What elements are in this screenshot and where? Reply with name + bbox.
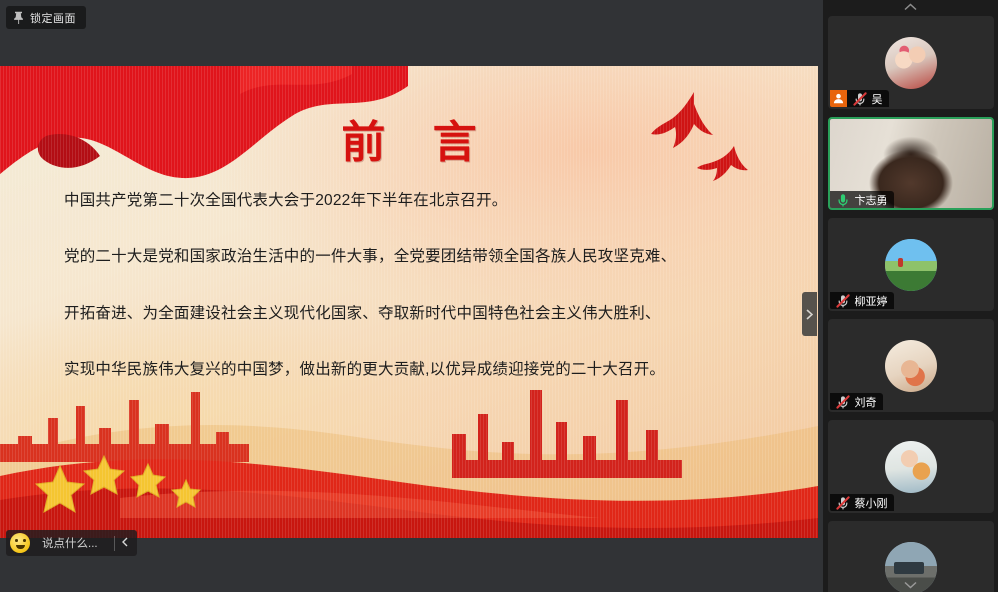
participant-name: 卞志勇 (855, 192, 888, 208)
presentation-slide: 前 言 中国共产党第二十次全国代表大会于2022年下半年在北京召开。 党的二十大… (0, 66, 818, 538)
slide-line-3: 开拓奋进、为全面建设社会主义现代化国家、夺取新时代中国特色社会主义伟大胜利、 (64, 304, 772, 323)
participant-tile[interactable]: 卞志勇 (828, 117, 994, 210)
participant-namebar: 卞志勇 (830, 191, 894, 208)
lock-screen-button[interactable]: 锁定画面 (6, 6, 86, 29)
participant-rail: 吴 卞志勇 (823, 0, 998, 592)
slide-title: 前 言 (0, 106, 818, 170)
participant-name: 柳亚婷 (855, 293, 888, 309)
participant-name: 蔡小刚 (855, 495, 888, 511)
host-badge-icon (830, 90, 847, 107)
chevron-up-icon (904, 3, 917, 11)
mic-muted-icon (835, 293, 851, 309)
participant-namebar: 吴 (830, 90, 889, 107)
mic-muted-icon (852, 91, 868, 107)
slide-line-4: 实现中华民族伟大复兴的中国梦，做出新的更大贡献,以优异成绩迎接党的二十大召开。 (64, 360, 772, 379)
chevron-left-icon (122, 537, 128, 547)
avatar (885, 37, 937, 89)
mic-muted-icon (835, 495, 851, 511)
slide-line-1: 中国共产党第二十次全国代表大会于2022年下半年在北京召开。 (64, 191, 772, 210)
chat-input-placeholder[interactable]: 说点什么... (30, 535, 114, 551)
avatar (885, 340, 937, 392)
collapse-chat-button[interactable] (115, 537, 135, 550)
participant-namebar: 蔡小刚 (830, 494, 894, 511)
participant-tile[interactable]: 柳亚婷 (828, 218, 994, 311)
mic-muted-icon (835, 394, 851, 410)
participant-name: 吴 (872, 91, 883, 107)
participant-tile[interactable]: 吴 (828, 16, 994, 109)
chevron-down-icon (904, 581, 917, 589)
pin-icon (13, 11, 24, 24)
chevron-right-icon (806, 309, 813, 320)
participant-namebar: 刘奇 (830, 393, 883, 410)
avatar (885, 239, 937, 291)
rail-scroll-down-button[interactable] (823, 578, 998, 592)
chat-composer[interactable]: 说点什么... (6, 530, 137, 556)
person-icon (833, 93, 844, 104)
shared-screen-stage: 锁定画面 前 言 中国共产党第二十次全国代表大会于2022年下半年在北京召开。 … (0, 0, 823, 592)
participant-tile[interactable]: 刘奇 (828, 319, 994, 412)
slide-line-2: 党的二十大是党和国家政治生活中的一件大事，全党要团结带领全国各族人民攻坚克难、 (64, 247, 772, 266)
smiley-icon[interactable] (10, 533, 30, 553)
expand-sidebar-button[interactable] (802, 292, 817, 336)
meeting-window: 锁定画面 前 言 中国共产党第二十次全国代表大会于2022年下半年在北京召开。 … (0, 0, 998, 592)
lock-screen-label: 锁定画面 (30, 10, 76, 26)
participant-name: 刘奇 (855, 394, 877, 410)
mic-active-icon (835, 192, 851, 208)
rail-scroll-up-button[interactable] (823, 0, 998, 14)
avatar (885, 441, 937, 493)
slide-body-text: 中国共产党第二十次全国代表大会于2022年下半年在北京召开。 党的二十大是党和国… (64, 191, 772, 380)
participant-tile[interactable]: 蔡小刚 (828, 420, 994, 513)
participant-namebar: 柳亚婷 (830, 292, 894, 309)
